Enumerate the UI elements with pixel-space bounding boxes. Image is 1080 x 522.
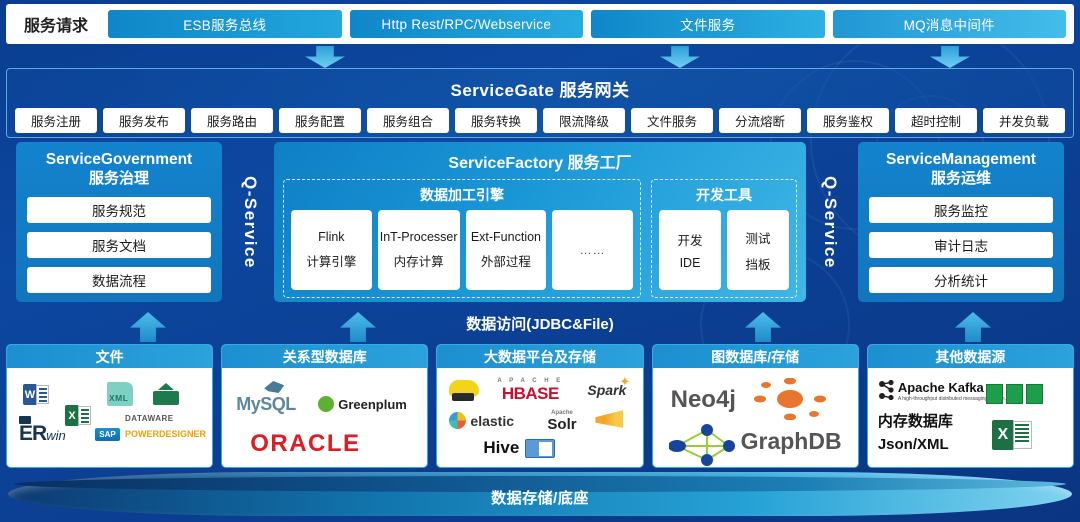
tools-card-mock-label: 挡板 (745, 254, 770, 273)
service-request-bar: 服务请求 ESB服务总线 Http Rest/RPC/Webservice 文件… (6, 4, 1074, 44)
gate-tag-rate-limit[interactable]: 限流降级 (543, 108, 625, 133)
gate-tag-file-service[interactable]: 文件服务 (631, 108, 713, 133)
middle-section: ServiceGovernment 服务治理 服务规范 服务文档 数据流程 Q-… (6, 142, 1074, 308)
engine-card-flink-desc: 计算引擎 (306, 251, 356, 270)
service-gate-title: ServiceGate 服务网关 (7, 69, 1073, 101)
service-gate-panel: ServiceGate 服务网关 服务注册 服务发布 服务路由 服务配置 服务组… (6, 68, 1074, 138)
engine-card-flink-name: Flink (318, 230, 344, 244)
data-access-label: 数据访问(JDBC&File) (466, 313, 614, 334)
data-source-title-graph-db: 图数据库/存储 (653, 345, 858, 368)
gate-tag-concurrent-load[interactable]: 并发负载 (983, 108, 1065, 133)
q-service-text: Q-Service (820, 176, 840, 269)
tools-card-develop-ide[interactable]: 开发 IDE (659, 210, 721, 290)
data-processing-engine-title: 数据加工引擎 (291, 185, 633, 205)
gate-tag-service-auth[interactable]: 服务鉴权 (807, 108, 889, 133)
hbase-logo: A P A C H E HBASE (497, 378, 563, 404)
service-government-title-cn: 服务治理 (27, 169, 211, 188)
management-item-analysis-stats[interactable]: 分析统计 (869, 267, 1053, 293)
engine-card-ext-function-desc: 外部过程 (481, 251, 531, 270)
engine-card-int-processer[interactable]: InT-Processer 内存计算 (378, 210, 460, 290)
json-xml-label: Json/XML (878, 436, 949, 453)
engine-card-list: Flink 计算引擎 InT-Processer 内存计算 Ext-Functi… (291, 210, 633, 290)
data-source-title-other: 其他数据源 (868, 345, 1073, 368)
data-source-row: 文件 W X XML ERwin (6, 344, 1074, 468)
erwin-logo: ERwin (19, 416, 66, 445)
gate-tag-circuit-breaker[interactable]: 分流熔断 (719, 108, 801, 133)
mysql-logo: MySQL (236, 394, 296, 415)
gate-tag-service-compose[interactable]: 服务组合 (367, 108, 449, 133)
q-service-text: Q-Service (240, 176, 260, 269)
data-source-title-relational-db: 关系型数据库 (222, 345, 427, 368)
data-source-logos-other: Apache Kafka A high-throughput distribut… (868, 368, 1073, 467)
gate-tag-service-transform[interactable]: 服务转换 (455, 108, 537, 133)
tools-card-develop-label: 开发 (677, 230, 702, 249)
engine-card-flink[interactable]: Flink 计算引擎 (291, 210, 372, 290)
green-folder-icon (153, 383, 179, 405)
data-source-logos-bigdata: A P A C H E HBASE ✦ Spark elastic Apache… (437, 368, 642, 467)
governance-item-data-flow[interactable]: 数据流程 (27, 267, 211, 293)
service-factory-title: ServiceFactory 服务工厂 (283, 149, 797, 173)
gate-tag-service-route[interactable]: 服务路由 (191, 108, 273, 133)
kafka-label: Apache Kafka (898, 380, 984, 395)
channel-chip-http-rest[interactable]: Http Rest/RPC/Webservice (350, 10, 584, 38)
arrow-down-icon (930, 46, 970, 68)
solr-flame-icon (595, 410, 623, 428)
data-processing-engine-group: 数据加工引擎 Flink 计算引擎 InT-Processer 内存计算 Ext… (283, 179, 641, 298)
data-source-logos-files: W X XML ERwin DATAWARE (7, 368, 212, 467)
data-source-logos-relational-db: MySQL Greenplum ORACLE (222, 368, 427, 467)
data-source-box-graph-db[interactable]: 图数据库/存储 Neo4j (652, 344, 859, 468)
oracle-logo: ORACLE (250, 430, 360, 458)
powerdesigner-label: POWERDESIGNER (125, 429, 206, 439)
data-access-bar: 数据访问(JDBC&File) (0, 310, 1080, 336)
q-service-label-left: Q-Service (228, 142, 272, 302)
tools-card-ide-label: IDE (680, 256, 701, 270)
gate-tag-service-publish[interactable]: 服务发布 (103, 108, 185, 133)
data-source-logos-graph-db: Neo4j (653, 368, 858, 467)
word-icon: W (23, 384, 49, 405)
data-storage-base-label: 数据存储/底座 (0, 487, 1080, 508)
service-management-panel: ServiceManagement 服务运维 服务监控 审计日志 分析统计 (858, 142, 1064, 302)
arrow-down-icon (305, 46, 345, 68)
downward-arrow-row (0, 46, 1080, 68)
sap-logo: SAP (95, 428, 120, 441)
neo4j-logo: Neo4j (671, 386, 736, 414)
service-management-title-cn: 服务运维 (869, 169, 1053, 188)
engine-card-more[interactable]: …… (552, 210, 633, 290)
elastic-logo: elastic (449, 412, 514, 429)
data-storage-base-banner: 数据存储/底座 (0, 466, 1080, 522)
tools-card-test-label: 测试 (745, 228, 770, 247)
channel-chip-mq[interactable]: MQ消息中间件 (833, 10, 1067, 38)
data-source-box-relational-db[interactable]: 关系型数据库 MySQL Greenplum ORACLE (221, 344, 428, 468)
kafka-icon (878, 380, 896, 400)
excel-green-icon: X (992, 420, 1032, 450)
management-item-audit-log[interactable]: 审计日志 (869, 232, 1053, 258)
channel-chip-esb[interactable]: ESB服务总线 (108, 10, 342, 38)
service-government-title-en: ServiceGovernment (46, 151, 192, 168)
spark-logo: ✦ Spark (587, 382, 626, 400)
engine-card-more-ellipsis: …… (580, 243, 606, 257)
management-item-service-monitor[interactable]: 服务监控 (869, 197, 1053, 223)
solr-logo: Apache Solr (547, 410, 576, 433)
service-gate-tag-list: 服务注册 服务发布 服务路由 服务配置 服务组合 服务转换 限流降级 文件服务 … (7, 101, 1073, 133)
gate-tag-timeout-control[interactable]: 超时控制 (895, 108, 977, 133)
tools-card-test-mock[interactable]: 测试 挡板 (727, 210, 789, 290)
hive-logo: Hive (483, 438, 555, 458)
governance-item-service-standard[interactable]: 服务规范 (27, 197, 211, 223)
data-source-box-files[interactable]: 文件 W X XML ERwin (6, 344, 213, 468)
dataware-label: DATAWARE (125, 414, 174, 423)
data-source-title-files: 文件 (7, 345, 212, 368)
greenplum-logo: Greenplum (318, 396, 407, 412)
engine-card-int-processer-name: InT-Processer (380, 230, 458, 244)
gate-tag-service-register[interactable]: 服务注册 (15, 108, 97, 133)
tools-card-list: 开发 IDE 测试 挡板 (659, 210, 789, 290)
engine-card-ext-function-name: Ext-Function (471, 230, 541, 244)
development-tools-title: 开发工具 (659, 185, 789, 205)
xml-file-icon: XML (107, 382, 133, 406)
excel-icon: X (65, 405, 91, 426)
service-factory-panel: ServiceFactory 服务工厂 数据加工引擎 Flink 计算引擎 In… (274, 142, 806, 302)
neo4j-graph-icon (669, 422, 739, 466)
graphdb-logo: GraphDB (741, 428, 842, 455)
engine-card-ext-function[interactable]: Ext-Function 外部过程 (466, 210, 547, 290)
service-government-panel: ServiceGovernment 服务治理 服务规范 服务文档 数据流程 (16, 142, 222, 302)
service-management-title: ServiceManagement 服务运维 (869, 150, 1053, 188)
data-source-title-bigdata: 大数据平台及存储 (437, 345, 642, 368)
memory-database-label: 内存数据库 (878, 410, 953, 431)
service-government-title: ServiceGovernment 服务治理 (27, 150, 211, 188)
engine-card-int-processer-desc: 内存计算 (394, 251, 444, 270)
arrow-down-icon (660, 46, 700, 68)
q-service-label-right: Q-Service (808, 142, 852, 302)
service-management-title-en: ServiceManagement (886, 151, 1036, 168)
green-table-icon (986, 384, 1043, 404)
graphdb-node-icon (751, 378, 829, 420)
data-source-box-other[interactable]: 其他数据源 Apache Kafka A high-throughput dis… (867, 344, 1074, 468)
service-factory-body: 数据加工引擎 Flink 计算引擎 InT-Processer 内存计算 Ext… (283, 179, 797, 298)
gate-tag-service-config[interactable]: 服务配置 (279, 108, 361, 133)
hive-elephant-icon (449, 380, 483, 402)
channel-chip-file-service[interactable]: 文件服务 (591, 10, 825, 38)
governance-item-service-doc[interactable]: 服务文档 (27, 232, 211, 258)
data-source-box-bigdata[interactable]: 大数据平台及存储 A P A C H E HBASE ✦ Spark elast… (436, 344, 643, 468)
development-tools-group: 开发工具 开发 IDE 测试 挡板 (651, 179, 797, 298)
service-request-label: 服务请求 (14, 12, 100, 36)
